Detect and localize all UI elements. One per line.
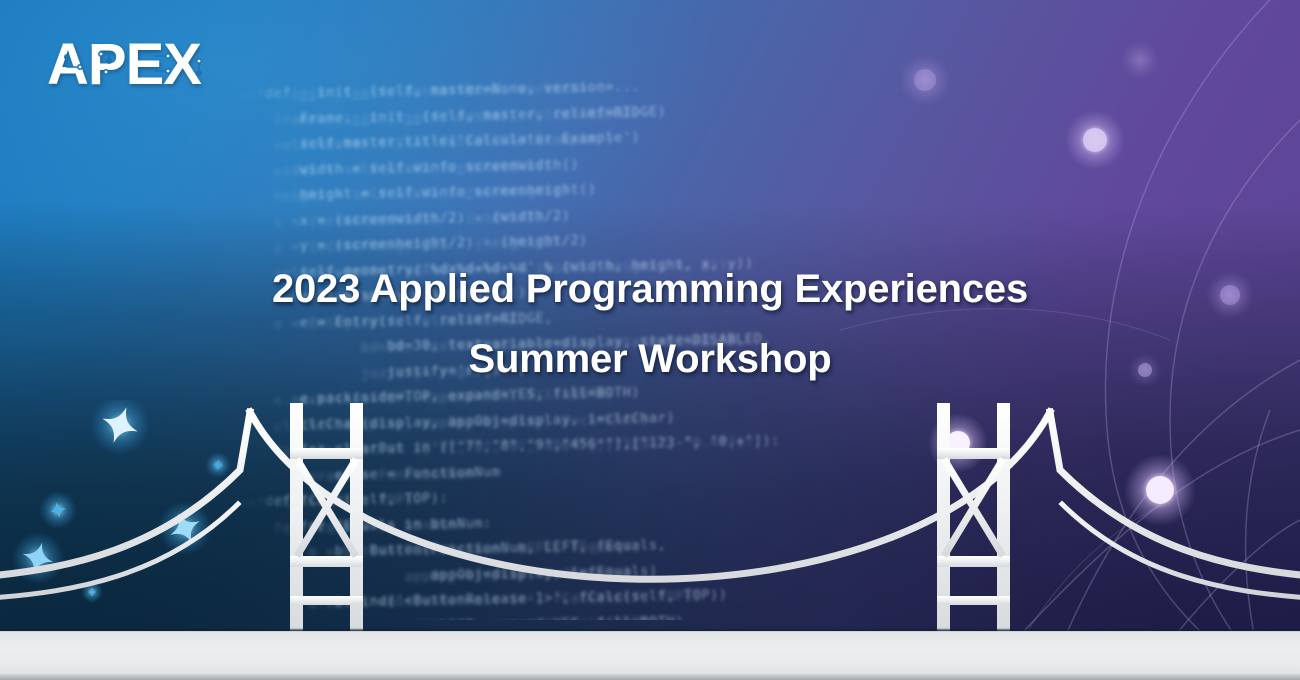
apex-logo-text: APEX: [47, 34, 202, 96]
apex-logo[interactable]: APEX: [47, 34, 247, 96]
bridge-deck-base: [0, 674, 1300, 680]
background-shade-bottom-right: [0, 0, 1300, 680]
apex-logo-wordmark: APEX: [47, 34, 202, 96]
conference-banner: def __init__(self, master=None, version=…: [0, 0, 1300, 680]
bridge-deck: [0, 631, 1300, 680]
